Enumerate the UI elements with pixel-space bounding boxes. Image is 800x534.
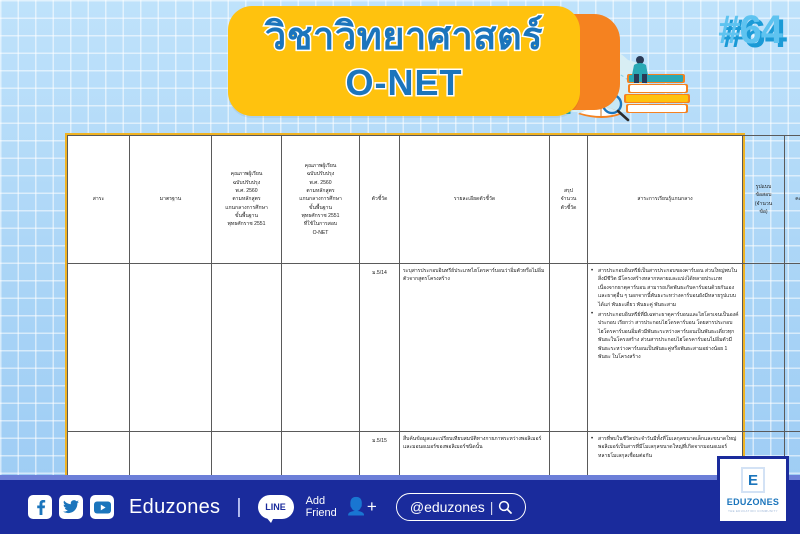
cell-indicator: ม.5/15 (360, 432, 400, 479)
curriculum-table-wrapper: สาระ มาตรฐาน คุณภาพผู้เรียน ฉบับปรับปรุง… (65, 133, 745, 481)
brand-name: Eduzones (129, 496, 220, 519)
cell-sum-indicator (550, 264, 588, 432)
hdr-q2-l9: O-NET (313, 230, 329, 236)
col-header-quality-onet: คุณภาพผู้เรียน ฉบับปรับปรุง พ.ศ. 2560 ตา… (282, 136, 360, 264)
cell-quality-onet (282, 264, 360, 432)
page-title-line1: วิชาวิทยาศาสตร์ (228, 14, 580, 60)
handle-separator: | (490, 499, 494, 515)
add-person-icon[interactable]: 👤+ (346, 497, 377, 517)
cell-quality-2560 (212, 432, 282, 479)
hdr-form-l1: รูปแบบ (756, 184, 772, 190)
col-header-sara: สาระ (68, 136, 130, 264)
col-header-mattrathan: มาตรฐาน (130, 136, 212, 264)
col-header-indicator: ตัวชี้วัด (360, 136, 400, 264)
hdr-q2-l1: คุณภาพผู้เรียน (305, 163, 337, 169)
hdr-sum-l1: สรุป (564, 188, 573, 194)
hdr-q2-l5: แกนกลางการศึกษา (299, 196, 342, 202)
twitter-icon[interactable] (59, 495, 83, 519)
list-item: สารประกอบอินทรีย์ที่มีเฉพาะธาตุคาร์บอนแล… (591, 311, 739, 361)
hdr-q1-l6: ขั้นพื้นฐาน (235, 213, 258, 219)
footer-divider: | (236, 496, 241, 519)
logo-letter: E (741, 467, 765, 493)
hdr-q1-l2: ฉบับปรับปรุง (233, 180, 261, 186)
add-friend-label[interactable]: Add Friend (306, 495, 337, 519)
hdr-q1-l4: ตามหลักสูตร (232, 196, 260, 202)
hdr-q1-l7: พุทธศักราช 2551 (228, 221, 266, 227)
hdr-sum-l2: จำนวน (561, 196, 577, 202)
cell-exam-format (743, 264, 785, 432)
add-friend-line2: Friend (306, 507, 337, 519)
hdr-q2-l6: ขั้นพื้นฐาน (309, 205, 332, 211)
handle-text: @eduzones (410, 499, 485, 515)
cell-detail: สืบค้นข้อมูลและเปรียบเทียบสมบัติทางกายภา… (400, 432, 550, 479)
facebook-icon[interactable] (28, 495, 52, 519)
eduzones-logo-card: E EDUZONES THE EDUCATION COMMUNITY (717, 456, 789, 524)
footer-bar: Eduzones | LINE Add Friend 👤+ @eduzones … (0, 480, 800, 534)
hdr-form-l2: ข้อสอบ (756, 192, 772, 198)
facebook-glyph (34, 500, 47, 515)
cell-indicator: ม.5/14 (360, 264, 400, 432)
table-row: ม.5/15 สืบค้นข้อมูลและเปรียบเทียบสมบัติท… (68, 432, 800, 479)
episode-badge: #64 (718, 8, 782, 53)
youtube-icon[interactable] (90, 495, 114, 519)
title-banner: วิชาวิทยาศาสตร์ O-NET (228, 6, 580, 116)
table-header: สาระ มาตรฐาน คุณภาพผู้เรียน ฉบับปรับปรุง… (68, 136, 800, 264)
col-header-sum-indicator: สรุป จำนวน ตัวชี้วัด (550, 136, 588, 264)
handle-search-pill[interactable]: @eduzones | (396, 493, 527, 521)
cell-sum-indicator (550, 432, 588, 479)
hdr-q2-l2: ฉบับปรับปรุง (307, 171, 335, 177)
col-header-exam-format: รูปแบบ ข้อสอบ (จำนวน ข้อ) (743, 136, 785, 264)
logo-tagline: THE EDUCATION COMMUNITY (728, 509, 778, 513)
col-header-score: คะแนน (785, 136, 800, 264)
col-header-detail: รายละเอียดตัวชี้วัด (400, 136, 550, 264)
cell-mattrathan (130, 264, 212, 432)
page-title-line2: O-NET (228, 60, 580, 106)
logo-wordmark: EDUZONES (727, 497, 779, 507)
cell-score (785, 264, 800, 432)
hdr-q1-l3: พ.ศ. 2560 (235, 188, 257, 194)
hdr-q2-l7: พุทธศักราช 2551 (302, 213, 340, 219)
twitter-glyph (63, 500, 79, 514)
hdr-q1-l1: คุณภาพผู้เรียน (231, 171, 263, 177)
cell-quality-2560 (212, 264, 282, 432)
table-row: ม.5/14 ระบุสารประกอบอินทรีย์ประเภทไฮโดรค… (68, 264, 800, 432)
hdr-sum-l3: ตัวชี้วัด (561, 205, 577, 211)
table-body: ม.5/14 ระบุสารประกอบอินทรีย์ประเภทไฮโดรค… (68, 264, 800, 479)
cell-quality-onet (282, 432, 360, 479)
col-header-quality-2560: คุณภาพผู้เรียน ฉบับปรับปรุง พ.ศ. 2560 ตา… (212, 136, 282, 264)
add-friend-line1: Add (306, 495, 326, 507)
footer-content: Eduzones | LINE Add Friend 👤+ @eduzones … (28, 480, 526, 534)
hdr-q2-l3: พ.ศ. 2560 (309, 180, 331, 186)
hdr-q2-l4: ตามหลักสูตร (306, 188, 334, 194)
search-icon (498, 500, 512, 514)
cell-detail: ระบุสารประกอบอินทรีย์ประเภทไฮโดรคาร์บอนว… (400, 264, 550, 432)
line-icon[interactable]: LINE (258, 495, 294, 519)
cell-mattrathan (130, 432, 212, 479)
youtube-glyph (94, 501, 111, 514)
hdr-q2-l8: ที่ใช้ในการสอบ (304, 221, 337, 227)
cell-sara (68, 432, 130, 479)
table-header-row: สาระ มาตรฐาน คุณภาพผู้เรียน ฉบับปรับปรุง… (68, 136, 800, 264)
cell-core-content: สารประกอบอินทรีย์เป็นสารประกอบของคาร์บอน… (588, 264, 743, 432)
core-bullet-list: สารประกอบอินทรีย์เป็นสารประกอบของคาร์บอน… (591, 267, 739, 361)
curriculum-table: สาระ มาตรฐาน คุณภาพผู้เรียน ฉบับปรับปรุง… (67, 135, 800, 479)
cell-sara (68, 264, 130, 432)
list-item: สารประกอบอินทรีย์เป็นสารประกอบของคาร์บอน… (591, 267, 739, 309)
page-root: #64 วิชาวิทยาศาสตร์ O-NET สาระ มาตรฐาน ค… (0, 0, 800, 534)
hdr-q1-l5: แกนกลางการศึกษา (225, 205, 268, 211)
hdr-form-l3: (จำนวน (755, 201, 772, 207)
col-header-core-content: สาระการเรียนรู้แกนกลาง (588, 136, 743, 264)
hdr-form-l4: ข้อ) (759, 209, 767, 215)
